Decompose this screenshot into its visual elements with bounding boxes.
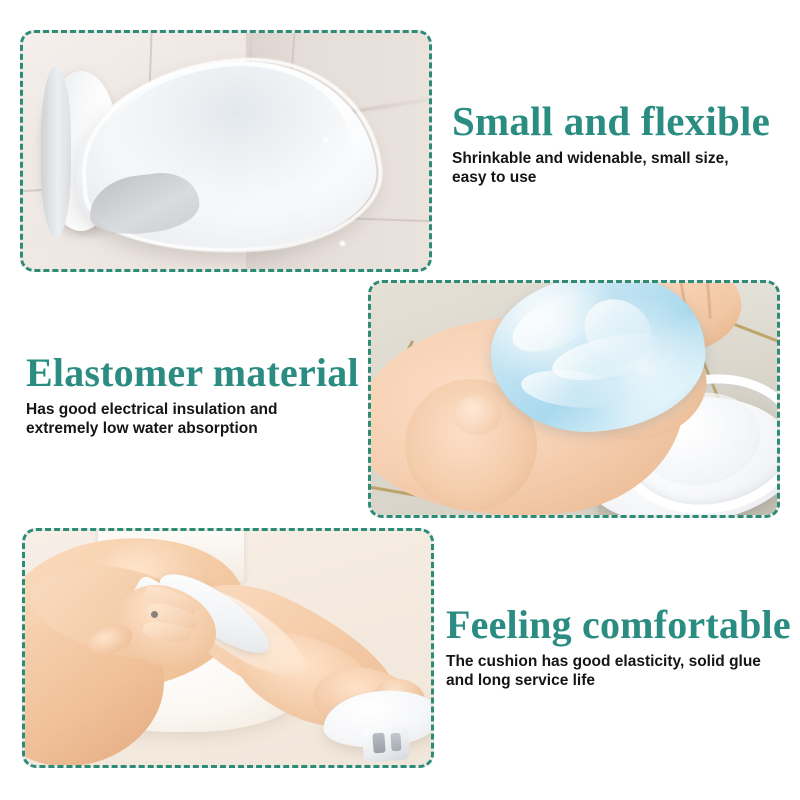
foot-rest-base-lip: [41, 66, 71, 238]
ankle-bone-highlight: [453, 395, 501, 435]
feature-heading: Small and flexible: [452, 100, 782, 143]
foot-rest-mount-slot: [372, 733, 385, 754]
feature-description: Has good electrical insulation and extre…: [26, 400, 366, 438]
feature-image-small-and-flexible: [20, 30, 432, 272]
feature-heading: Elastomer material: [26, 352, 366, 394]
water-droplet: [340, 241, 345, 246]
feature-text-feeling-comfortable: Feeling comfortable The cushion has good…: [446, 604, 792, 690]
feature-image-feeling-comfortable: [22, 528, 434, 768]
photo-shower-foot-rest-on-tile: [23, 33, 429, 269]
feature-text-elastomer-material: Elastomer material Has good electrical i…: [26, 352, 366, 438]
foot-rest-mount-slot: [390, 733, 401, 752]
photo-leg-shaving-with-foot-rest: [25, 531, 431, 765]
feature-text-small-and-flexible: Small and flexible Shrinkable and widena…: [452, 100, 782, 187]
razor-button: [151, 611, 158, 618]
foot-rest-mount-stem: [362, 725, 410, 762]
feature-heading: Feeling comfortable: [446, 604, 792, 646]
feature-image-elastomer-material: [368, 280, 780, 518]
photo-foot-scrubbing-with-loofah: [371, 283, 777, 515]
feature-description: Shrinkable and widenable, small size, ea…: [452, 149, 782, 187]
feature-description: The cushion has good elasticity, solid g…: [446, 652, 792, 690]
